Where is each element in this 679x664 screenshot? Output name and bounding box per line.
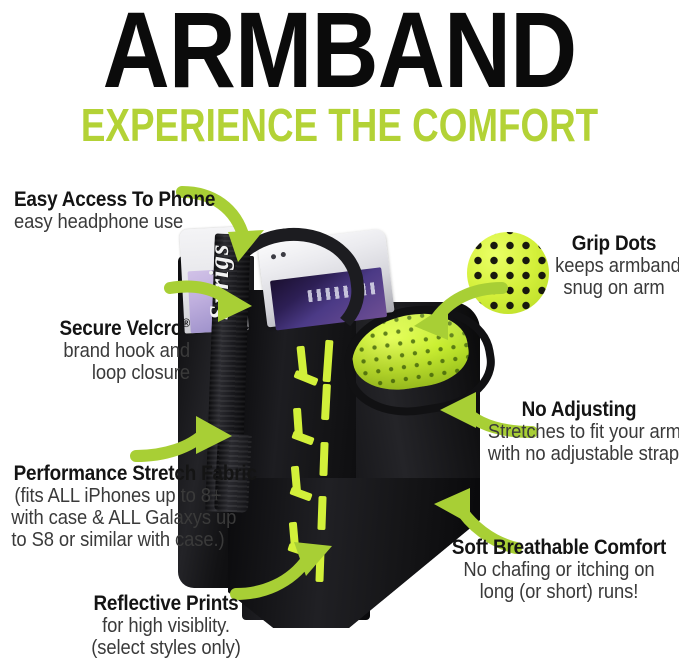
callout-title: Secure Velcro® (46, 312, 190, 340)
registered-trademark-icon: ® (182, 316, 190, 330)
poster-header: ARMBAND EXPERIENCE THE COMFORT (0, 0, 679, 168)
callout-no-adjusting: No Adjusting Stretches to fit your arm w… (480, 398, 678, 465)
callout-title-text: Secure Velcro (60, 317, 183, 340)
callout-title: Easy Access To Phone (14, 188, 221, 211)
callout-body-line: with no adjustable straps (488, 443, 670, 465)
page-subtitle: EXPERIENCE THE COMFORT (68, 102, 611, 148)
callout-body-line: loop closure (43, 362, 190, 384)
reflective-print-mark (319, 442, 328, 476)
armband-infographic-poster: ARMBAND EXPERIENCE THE COMFORT (0, 0, 679, 664)
callout-title: Performance Stretch Fabric (14, 462, 223, 485)
callout-body-line: (select styles only) (74, 637, 258, 659)
callout-body-line: brand hook and (43, 340, 190, 362)
callout-title: Grip Dots (556, 232, 671, 255)
callout-stretch-fabric: Performance Stretch Fabric (fits ALL iPh… (2, 462, 234, 551)
callout-grip-dots: Grip Dots keeps armband snug on arm (550, 232, 678, 299)
page-title: ARMBAND (48, 0, 632, 104)
callout-body-line: with case & ALL Galaxys up (11, 507, 224, 529)
callout-reflective-prints: Reflective Prints for high visiblity. (s… (66, 592, 266, 659)
callout-easy-access: Easy Access To Phone easy headphone use (14, 188, 244, 233)
callout-title: Soft Breathable Comfort (452, 536, 666, 559)
callout-body-line: keeps armband (555, 255, 673, 277)
callout-title: No Adjusting (490, 398, 668, 421)
arrow-grip-dots-icon (392, 282, 508, 356)
callout-body-line: to S8 or similar with case.) (11, 529, 224, 551)
callout-title: Reflective Prints (76, 592, 256, 615)
callout-body-line: easy headphone use (14, 211, 226, 233)
callout-body-line: snug on arm (555, 277, 673, 299)
callout-soft-comfort: Soft Breathable Comfort No chafing or it… (440, 536, 678, 603)
callout-secure-velcro: Secure Velcro® brand hook and loop closu… (30, 312, 190, 384)
callout-body-line: No chafing or itching on (450, 559, 669, 581)
callout-body-line: for high visiblity. (74, 615, 258, 637)
arrow-reflective-prints-icon (232, 524, 354, 600)
callout-body-line: long (or short) runs! (450, 581, 669, 603)
callout-body-line: Stretches to fit your arm (488, 421, 670, 443)
callout-body-line: (fits ALL iPhones up to 8+ (11, 485, 224, 507)
